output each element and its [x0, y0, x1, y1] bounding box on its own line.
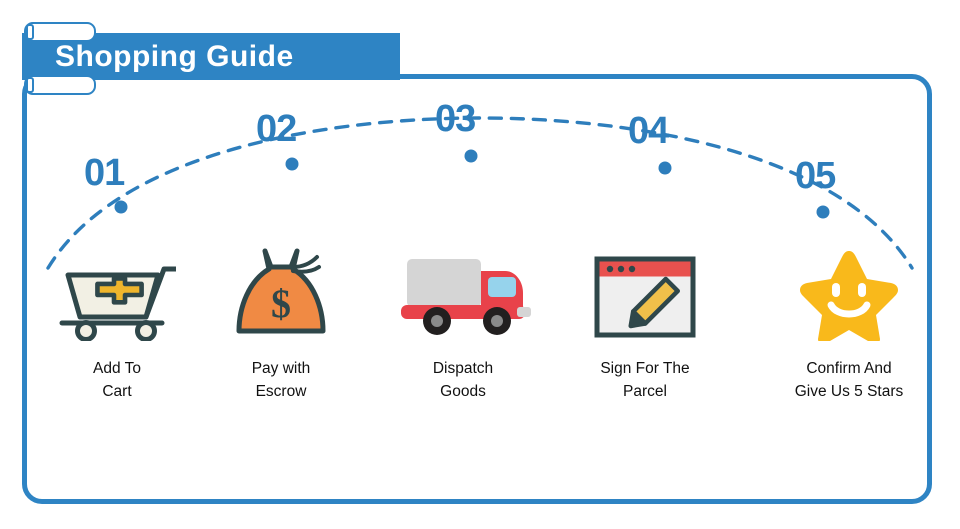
svg-text:$: $: [271, 281, 291, 326]
step-number-03: 03: [435, 98, 475, 141]
ribbon-curl-bottom-tab: [26, 77, 34, 93]
smiling-star-icon: [799, 247, 899, 341]
step-number-05: 05: [795, 155, 835, 198]
step-item-03[interactable]: Dispatch Goods: [378, 245, 548, 403]
delivery-truck-icon: [393, 249, 533, 341]
browser-pencil-icon: [593, 251, 697, 341]
step-item-04[interactable]: Sign For The Parcel: [560, 245, 730, 403]
step-number-04: 04: [628, 110, 668, 153]
money-bag-icon: $: [231, 245, 331, 341]
ribbon-curl-top-tab: [26, 24, 34, 40]
step-caption-05: Confirm And Give Us 5 Stars: [764, 357, 934, 403]
step-caption-03: Dispatch Goods: [378, 357, 548, 403]
step-caption-02: Pay with Escrow: [196, 357, 366, 403]
step-icon-box-05: [764, 245, 934, 341]
step-icon-box-03: [378, 245, 548, 341]
step-number-01: 01: [84, 152, 124, 195]
step-item-02[interactable]: $ Pay with Escrow: [196, 245, 366, 403]
step-icon-box-04: [560, 245, 730, 341]
shopping-guide-infographic: Shopping Guide 01 02 03 04 05 Add To Car…: [0, 0, 960, 529]
step-icon-box-01: [32, 245, 202, 341]
step-item-05[interactable]: Confirm And Give Us 5 Stars: [764, 245, 934, 403]
step-caption-01: Add To Cart: [32, 357, 202, 403]
step-number-02: 02: [256, 108, 296, 151]
ribbon-curl-bottom: [24, 75, 96, 95]
shopping-cart-icon: [58, 251, 176, 341]
page-title: Shopping Guide: [55, 36, 294, 78]
step-caption-04: Sign For The Parcel: [560, 357, 730, 403]
step-icon-box-02: $: [196, 245, 366, 341]
step-item-01[interactable]: Add To Cart: [32, 245, 202, 403]
